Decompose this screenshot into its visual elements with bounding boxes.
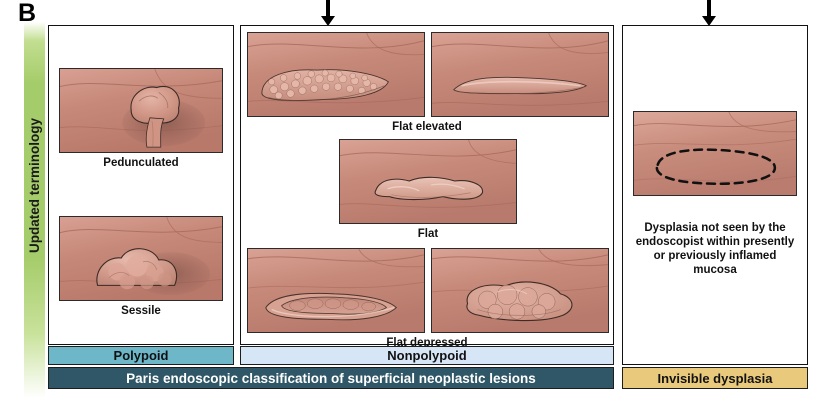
bar-paris-classification: Paris endoscopic classification of super…	[48, 367, 614, 389]
flat-elevated-smooth-illustration	[431, 32, 609, 117]
figure-panel-b: B Updated terminology	[0, 0, 821, 415]
bar-polypoid: Polypoid	[48, 346, 234, 365]
down-arrow-icon-invisible	[698, 0, 720, 26]
invisible-dysplasia-dashed-outline-illustration	[633, 111, 797, 196]
bar-nonpolypoid: Nonpolypoid	[240, 346, 614, 365]
caption-flat: Flat	[339, 228, 517, 240]
invisible-dysplasia-panel: Dysplasia not seen by the endoscopist wi…	[622, 25, 808, 365]
caption-flat-elevated: Flat elevated	[241, 121, 613, 133]
flat-depressed-right-illustration	[431, 248, 609, 333]
flat-lesion-illustration	[339, 139, 517, 224]
polypoid-panel: Pedunculated	[48, 25, 234, 345]
pedunculated-polyp-illustration	[59, 68, 223, 153]
caption-pedunculated: Pedunculated	[49, 157, 233, 169]
nonpolypoid-panel: Flat elevated	[240, 25, 614, 345]
updated-terminology-label: Updated terminology	[27, 23, 42, 348]
bar-invisible-dysplasia: Invisible dysplasia	[622, 367, 808, 389]
invisible-dysplasia-description: Dysplasia not seen by the endoscopist wi…	[631, 221, 799, 277]
down-arrow-icon-nonpolypoid	[317, 0, 339, 26]
sessile-polyp-illustration	[59, 216, 223, 301]
updated-terminology-band: Updated terminology	[24, 22, 45, 402]
caption-sessile: Sessile	[49, 305, 233, 317]
flat-elevated-granular-illustration	[247, 32, 425, 117]
flat-depressed-left-illustration	[247, 248, 425, 333]
